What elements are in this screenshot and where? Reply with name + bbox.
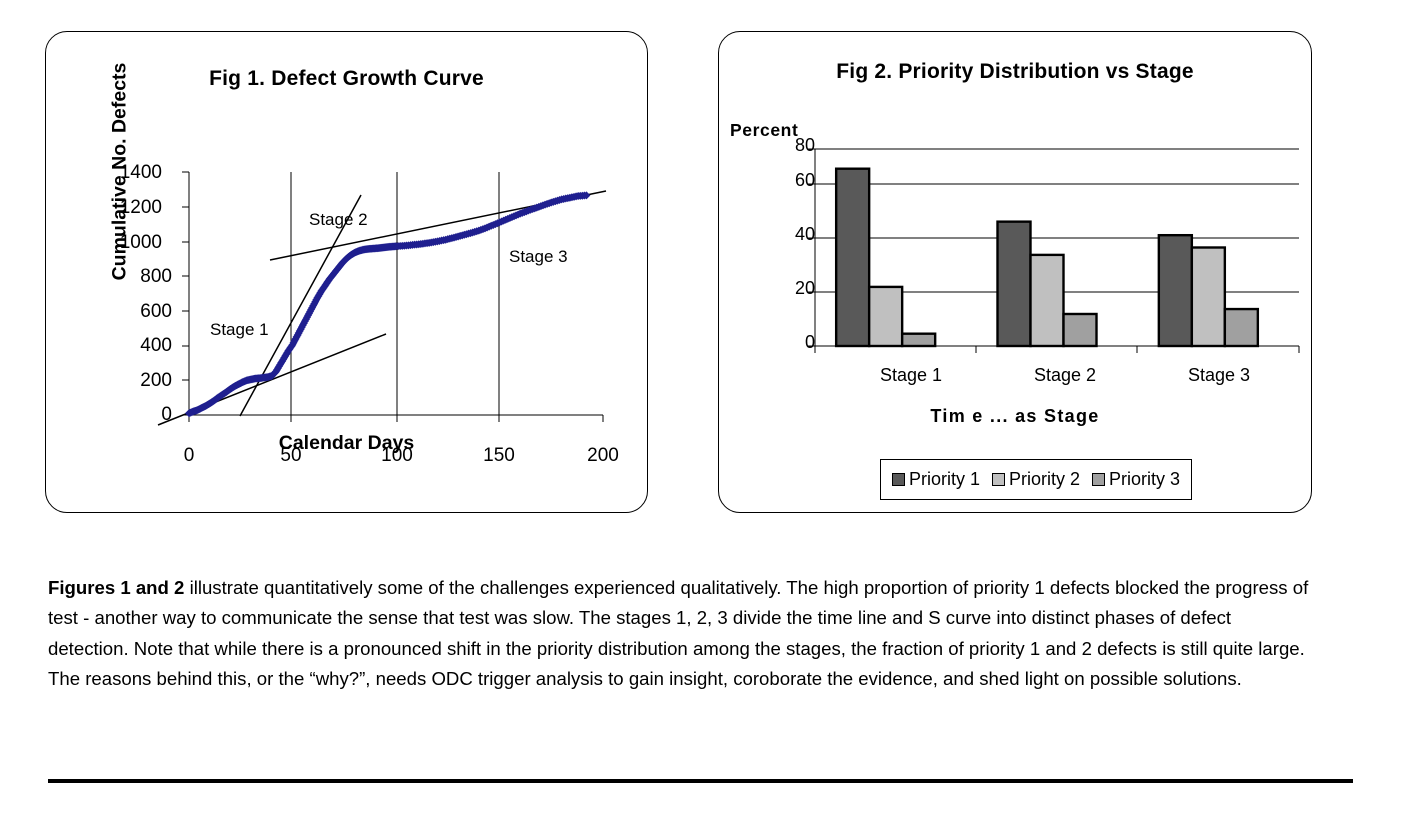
legend-entry-priority-1[interactable]: Priority 1 [892, 469, 980, 490]
legend-entry-priority-3[interactable]: Priority 3 [1092, 469, 1180, 490]
legend-swatch-icon-priority-2 [992, 473, 1005, 486]
legend-swatch-icon-priority-3 [1092, 473, 1105, 486]
bar-priority-3-stage-2 [1064, 314, 1097, 346]
bar-priority-1-stage-3 [1159, 235, 1192, 346]
figure-1-plot-area [46, 32, 649, 514]
legend-swatch-icon-priority-1 [892, 473, 905, 486]
figure-2-plot-area [719, 32, 1313, 514]
figure-1-data-points [185, 191, 590, 417]
figure-2-panel: Fig 2. Priority Distribution vs Stage Pe… [718, 31, 1312, 513]
bar-priority-2-stage-1 [869, 287, 902, 346]
figure-2-bar-group [836, 169, 1258, 346]
legend-label-priority-1: Priority 1 [909, 469, 980, 490]
body-paragraph-lead: Figures 1 and 2 [48, 577, 184, 598]
bar-priority-2-stage-2 [1031, 255, 1064, 346]
bar-priority-2-stage-3 [1192, 248, 1225, 347]
body-paragraph-rest: illustrate quantitatively some of the ch… [48, 577, 1308, 690]
bar-priority-1-stage-2 [998, 222, 1031, 346]
bar-priority-3-stage-3 [1225, 309, 1258, 346]
horizontal-rule [48, 779, 1353, 783]
bar-priority-1-stage-1 [836, 169, 869, 346]
figure-1-panel: Fig 1. Defect Growth Curve Cumulative No… [45, 31, 648, 513]
figure-2-legend: Priority 1 Priority 2 Priority 3 [880, 459, 1192, 500]
bar-priority-3-stage-1 [902, 334, 935, 346]
legend-entry-priority-2[interactable]: Priority 2 [992, 469, 1080, 490]
body-paragraph: Figures 1 and 2 illustrate quantitativel… [48, 573, 1310, 695]
legend-label-priority-3: Priority 3 [1109, 469, 1180, 490]
legend-label-priority-2: Priority 2 [1009, 469, 1080, 490]
